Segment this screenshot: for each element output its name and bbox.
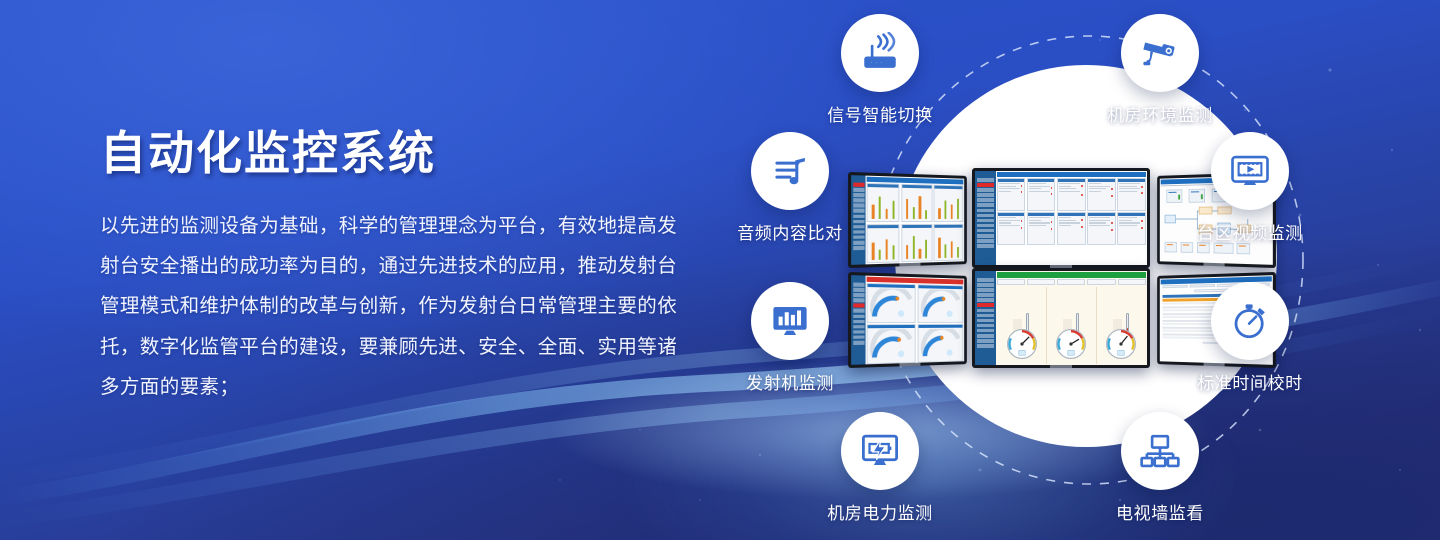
feature-label: 机房环境监测: [1080, 101, 1240, 126]
hero-banner: 自动化监控系统 以先进的监测设备为基础，科学的管理理念为平台，有效地提高发射台安…: [0, 0, 1440, 540]
feature-icon-circle[interactable]: [751, 282, 829, 360]
hero-text-block: 自动化监控系统 以先进的监测设备为基础，科学的管理理念为平台，有效地提高发射台安…: [100, 128, 700, 407]
power-monitor-icon: [859, 430, 901, 472]
feature-label: 电视墙监看: [1080, 499, 1240, 524]
feature-icon-circle[interactable]: [841, 14, 919, 92]
feature-icon-circle[interactable]: [1211, 282, 1289, 360]
monitor-screen-dial-gauges: [972, 268, 1150, 368]
cctv-camera-icon: [1139, 32, 1181, 74]
feature-time-sync[interactable]: 标准时间校时: [1170, 282, 1330, 394]
feature-tv-wall[interactable]: 电视墙监看: [1080, 412, 1240, 524]
router-icon: [859, 32, 901, 74]
feature-audio-compare[interactable]: 音频内容比对: [710, 132, 870, 244]
monitor-stand: [899, 363, 920, 367]
visual-composition: 信号智能切换 机房环境监测: [720, 0, 1440, 540]
stopwatch-icon: [1229, 300, 1271, 342]
monitor-screen-data-panels: [972, 168, 1150, 268]
page-title: 自动化监控系统: [100, 128, 700, 180]
feature-label: 标准时间校时: [1170, 369, 1330, 394]
feature-room-environment[interactable]: 机房环境监测: [1080, 14, 1240, 126]
feature-area-video[interactable]: 台区视频监测: [1170, 132, 1330, 244]
feature-label: 音频内容比对: [710, 219, 870, 244]
feature-signal-switch[interactable]: 信号智能切换: [800, 14, 960, 126]
screen-sidebar: [975, 271, 996, 365]
feature-icon-circle[interactable]: [841, 412, 919, 490]
feature-label: 机房电力监测: [800, 499, 960, 524]
hero-description: 以先进的监测设备为基础，科学的管理理念为平台，有效地提高发射台安全播出的成功率为…: [100, 206, 692, 408]
monitor-stand: [1204, 263, 1225, 267]
monitor-stand: [1050, 365, 1072, 368]
feature-transmitter-monitor[interactable]: 发射机监测: [710, 282, 870, 394]
feature-label: 信号智能切换: [800, 101, 960, 126]
feature-label: 台区视频监测: [1170, 219, 1330, 244]
video-monitor-icon: [1229, 150, 1271, 192]
feature-label: 发射机监测: [710, 369, 870, 394]
bar-chart-monitor-icon: [769, 300, 811, 342]
monitor-stand: [899, 263, 920, 267]
screen-sidebar: [975, 171, 996, 265]
feature-icon-circle[interactable]: [1211, 132, 1289, 210]
network-wall-icon: [1139, 430, 1181, 472]
feature-icon-circle[interactable]: [751, 132, 829, 210]
audio-playlist-icon: [769, 150, 811, 192]
feature-icon-circle[interactable]: [1121, 412, 1199, 490]
feature-icon-circle[interactable]: [1121, 14, 1199, 92]
feature-room-power[interactable]: 机房电力监测: [800, 412, 960, 524]
